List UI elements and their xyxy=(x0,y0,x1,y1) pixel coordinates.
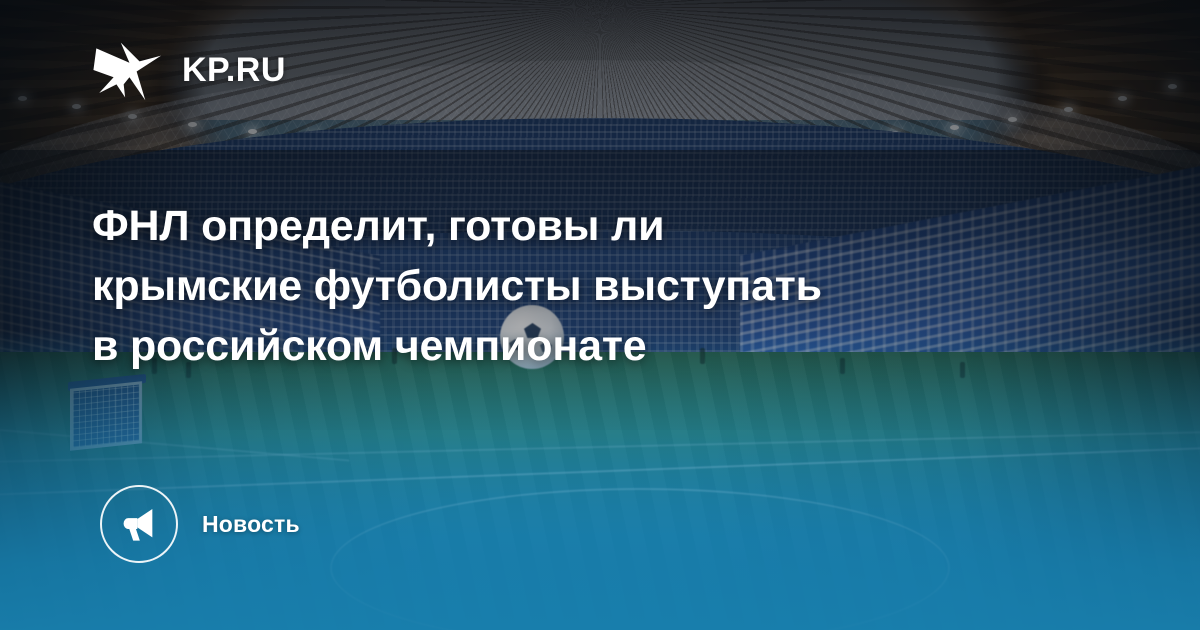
megaphone-icon xyxy=(119,504,159,544)
swallow-bird-icon xyxy=(92,34,164,106)
brand-name: KP.RU xyxy=(182,53,286,87)
headline-line-2: крымские футболисты выступать xyxy=(92,256,1102,316)
badge-label: Новость xyxy=(202,511,300,538)
page-title: ФНЛ определит, готовы ли крымские футбол… xyxy=(92,196,1102,376)
brand-lockup[interactable]: KP.RU xyxy=(92,34,286,106)
article-share-card: KP.RU ФНЛ определит, готовы ли крымские … xyxy=(0,0,1200,630)
headline-line-3: в российском чемпионате xyxy=(92,316,1102,376)
status-badge[interactable]: Новость xyxy=(100,485,300,563)
badge-icon-ring xyxy=(100,485,178,563)
card-content: KP.RU ФНЛ определит, готовы ли крымские … xyxy=(0,0,1200,630)
headline-line-1: ФНЛ определит, готовы ли xyxy=(92,196,1102,256)
